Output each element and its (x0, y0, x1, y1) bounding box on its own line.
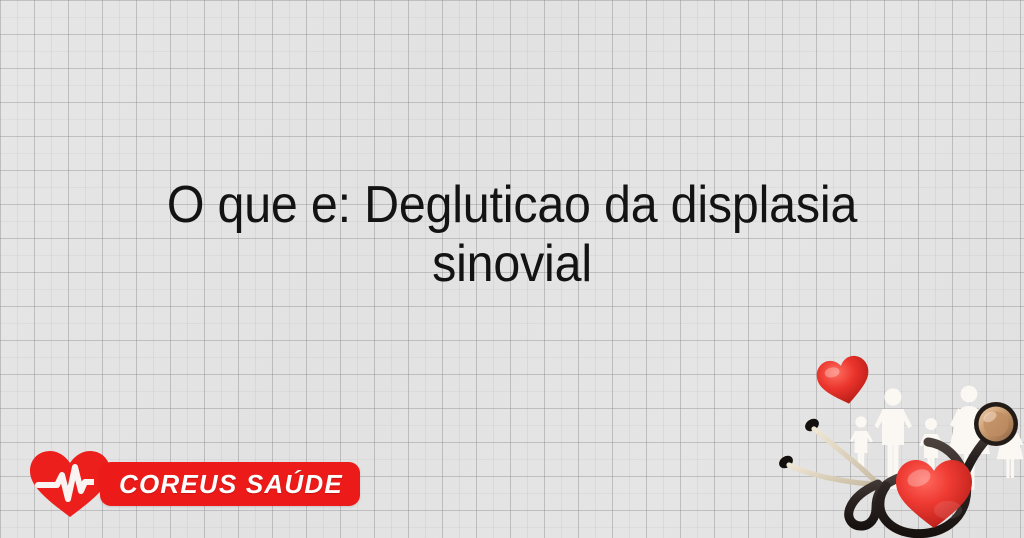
page-title-text: O que e: Degluticao da displasia sinovia… (92, 176, 933, 295)
slide-canvas: O que e: Degluticao da displasia sinovia… (0, 0, 1024, 538)
stethoscope-chestpiece-icon (974, 402, 1018, 446)
small-heart-icon (814, 353, 874, 409)
brand-name-text: COREUS SAÚDE (119, 469, 343, 500)
brand-logo: COREUS SAÚDE (28, 448, 360, 520)
page-title: O que e: Degluticao da displasia sinovia… (0, 176, 1024, 295)
brand-name-plate: COREUS SAÚDE (100, 462, 360, 506)
health-family-stethoscope-artwork (768, 344, 1024, 538)
